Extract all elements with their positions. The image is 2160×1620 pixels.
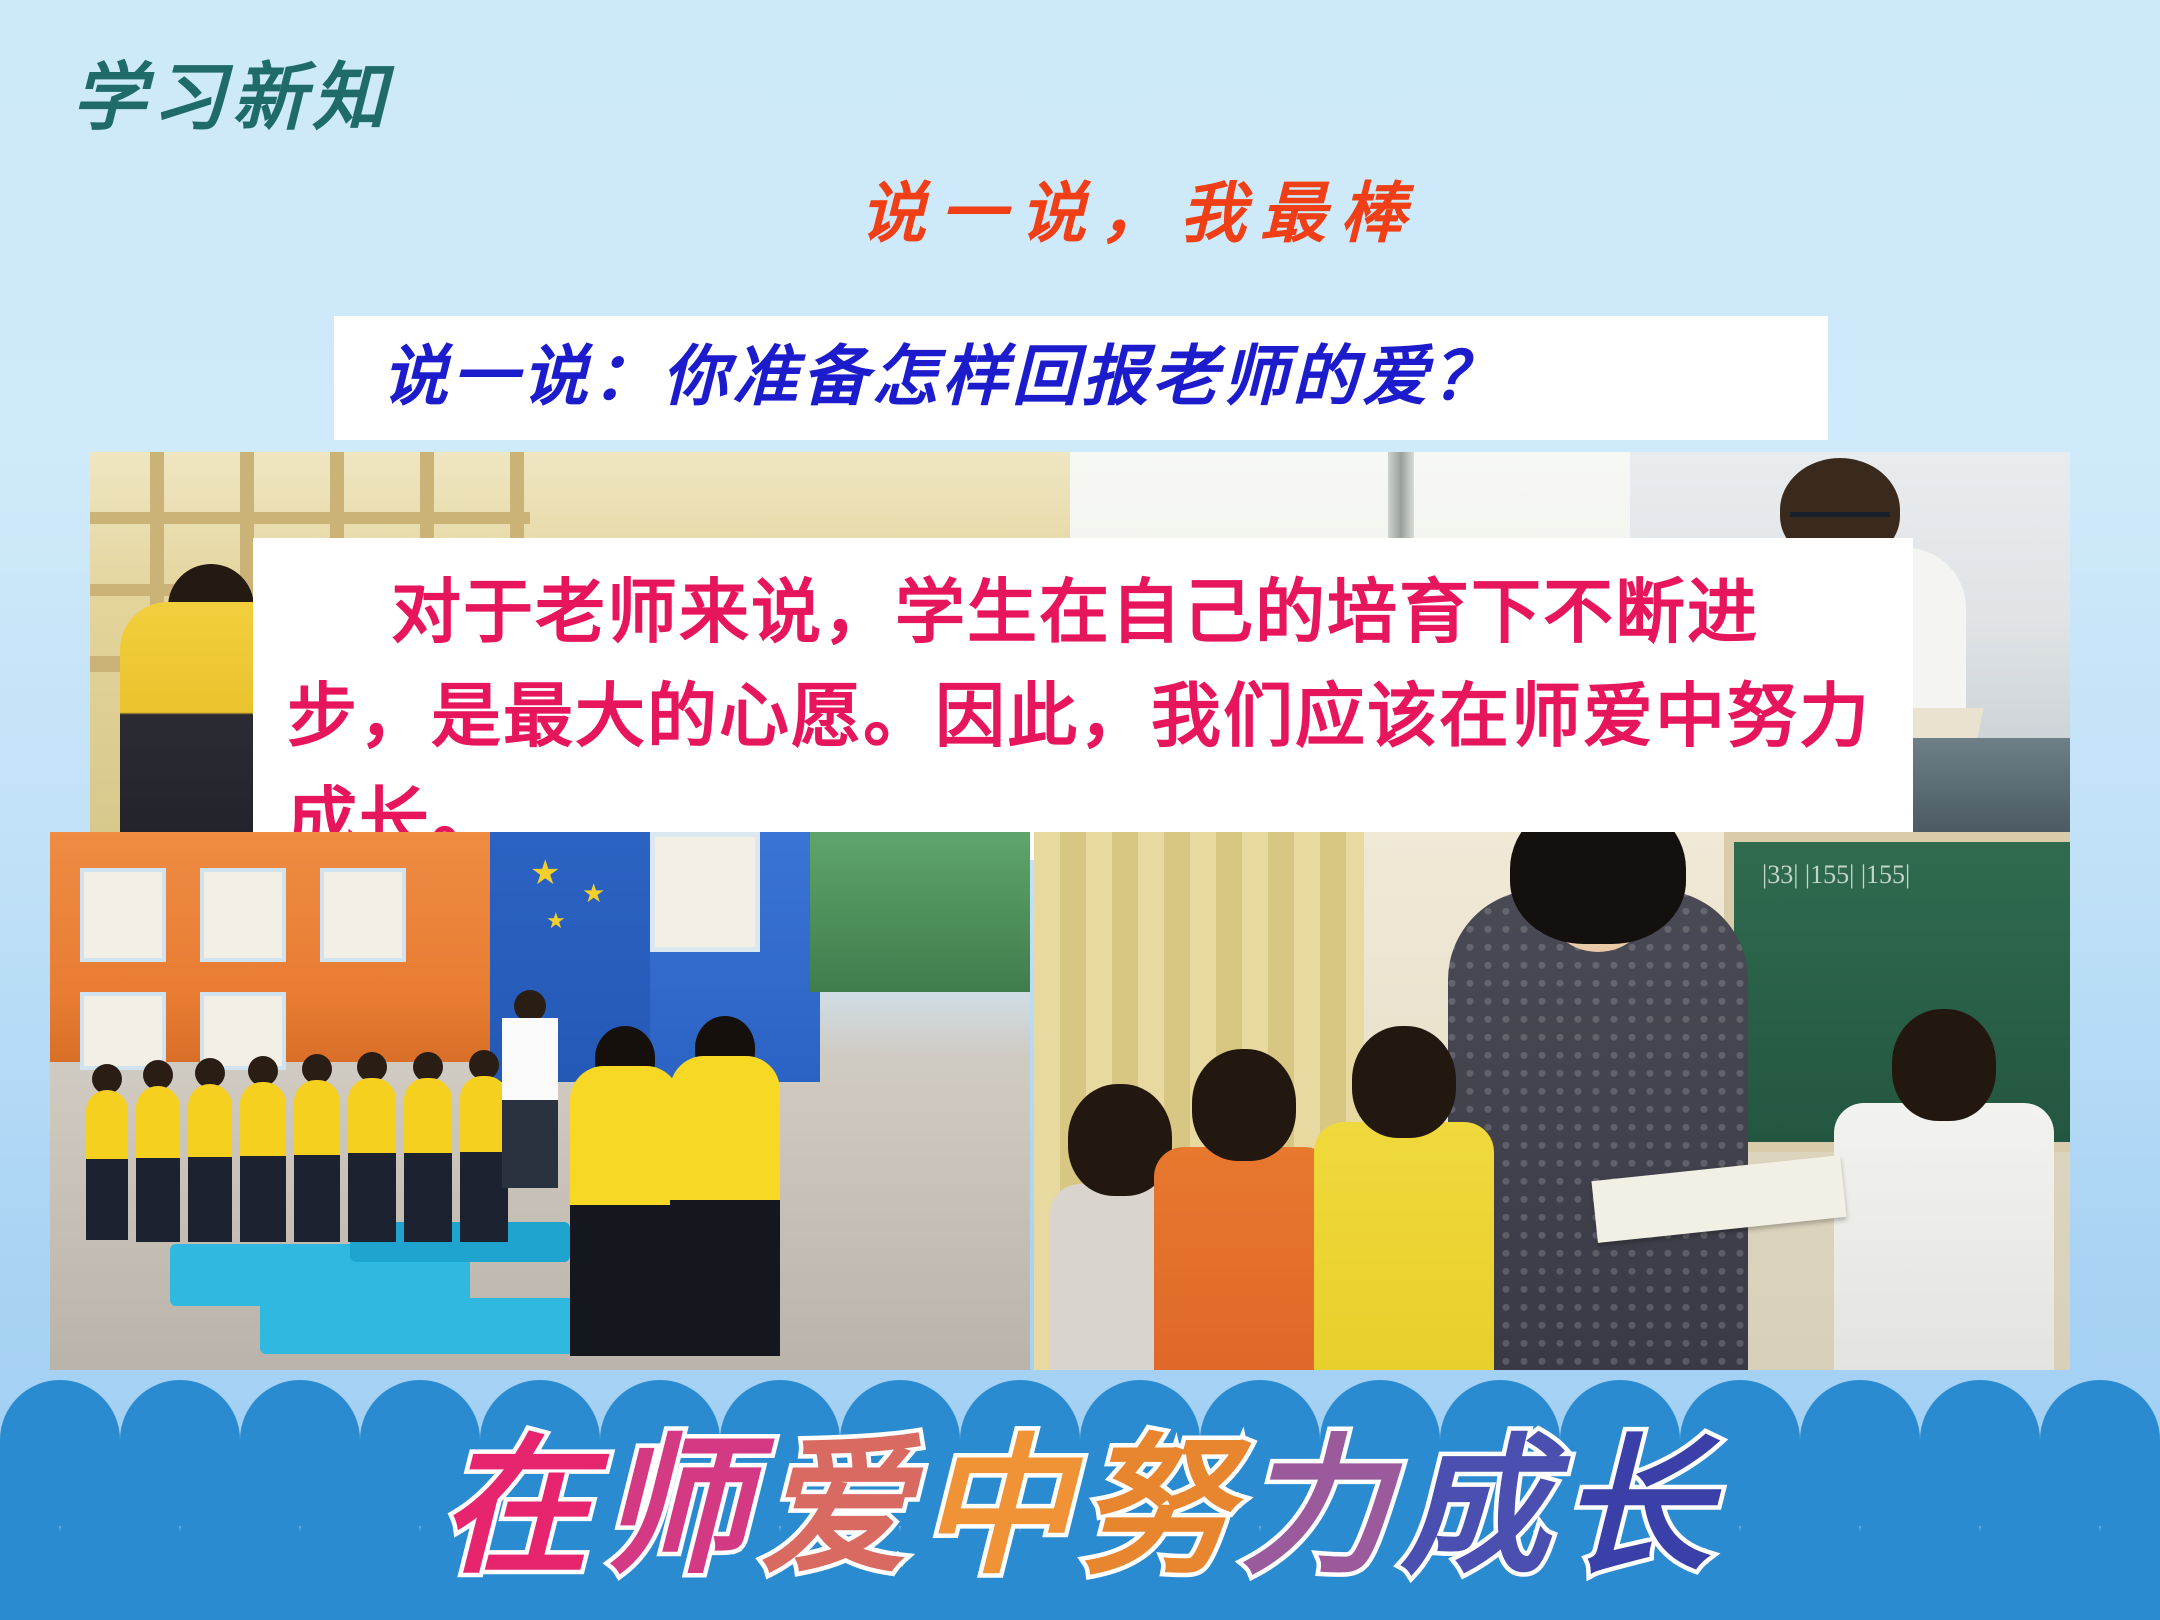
statement-card: 对于老师来说，学生在自己的培育下不断进步，是最大的心愿。因此，我们应该在师爱中努… xyxy=(253,538,1913,860)
star-icon: ★ xyxy=(530,856,560,890)
schoolyard-students-photo: ★ ★ ★ xyxy=(50,832,1030,1370)
teacher-figure xyxy=(502,1018,558,1188)
building-window xyxy=(80,992,166,1070)
student-in-line xyxy=(460,1076,508,1242)
statement-text: 对于老师来说，学生在自己的培育下不断进步，是最大的心愿。因此，我们应该在师爱中努… xyxy=(287,562,1887,874)
student-in-line xyxy=(86,1090,128,1240)
teacher-reading-with-students-photo: |33| |155| |155| xyxy=(1034,832,2070,1370)
slide-canvas: 学习新知 说一说，我最棒 说一说：你准备怎样回报 xyxy=(0,0,2160,1620)
student-in-line xyxy=(404,1078,452,1242)
bottom-decorative-title: 在师爱中努力成长 xyxy=(0,1434,2160,1584)
building-window xyxy=(80,868,166,962)
bottom-title-char: 中 xyxy=(920,1426,1080,1592)
question-card: 说一说：你准备怎样回报老师的爱？ xyxy=(334,316,1828,440)
student-in-line xyxy=(136,1086,180,1242)
gym-mat xyxy=(260,1298,590,1354)
bottom-title-char: 成 xyxy=(1400,1426,1560,1592)
student-figure xyxy=(1834,940,2054,1370)
building-window xyxy=(320,868,406,962)
window-rail xyxy=(90,512,530,524)
section-title: 学习新知 xyxy=(72,62,392,136)
bottom-title-char: 在 xyxy=(440,1426,600,1592)
question-text: 说一说：你准备怎样回报老师的爱？ xyxy=(382,332,1502,424)
building-window xyxy=(650,832,760,952)
green-trees xyxy=(810,832,1030,992)
student-figure xyxy=(1314,970,1494,1370)
star-icon: ★ xyxy=(546,910,566,932)
building-window xyxy=(200,868,286,962)
orange-heading: 说一说，我最棒 xyxy=(60,182,2160,248)
star-icon: ★ xyxy=(582,880,605,906)
bottom-title-char: 努 xyxy=(1080,1426,1240,1592)
glasses-icon xyxy=(1790,512,1890,533)
bottom-title-char: 爱 xyxy=(760,1426,920,1592)
student-in-line xyxy=(240,1082,286,1242)
student-hugging xyxy=(670,1056,780,1356)
bottom-title-char: 长 xyxy=(1560,1426,1720,1592)
student-figure xyxy=(1154,1010,1334,1370)
bottom-title-char: 力 xyxy=(1240,1426,1400,1592)
student-in-line xyxy=(188,1084,232,1242)
bottom-title-char: 师 xyxy=(600,1426,760,1592)
student-in-line xyxy=(294,1080,340,1242)
student-hugging xyxy=(570,1066,680,1356)
chalkboard-text: |33| |155| |155| xyxy=(1762,860,1910,890)
student-in-line xyxy=(348,1078,396,1242)
